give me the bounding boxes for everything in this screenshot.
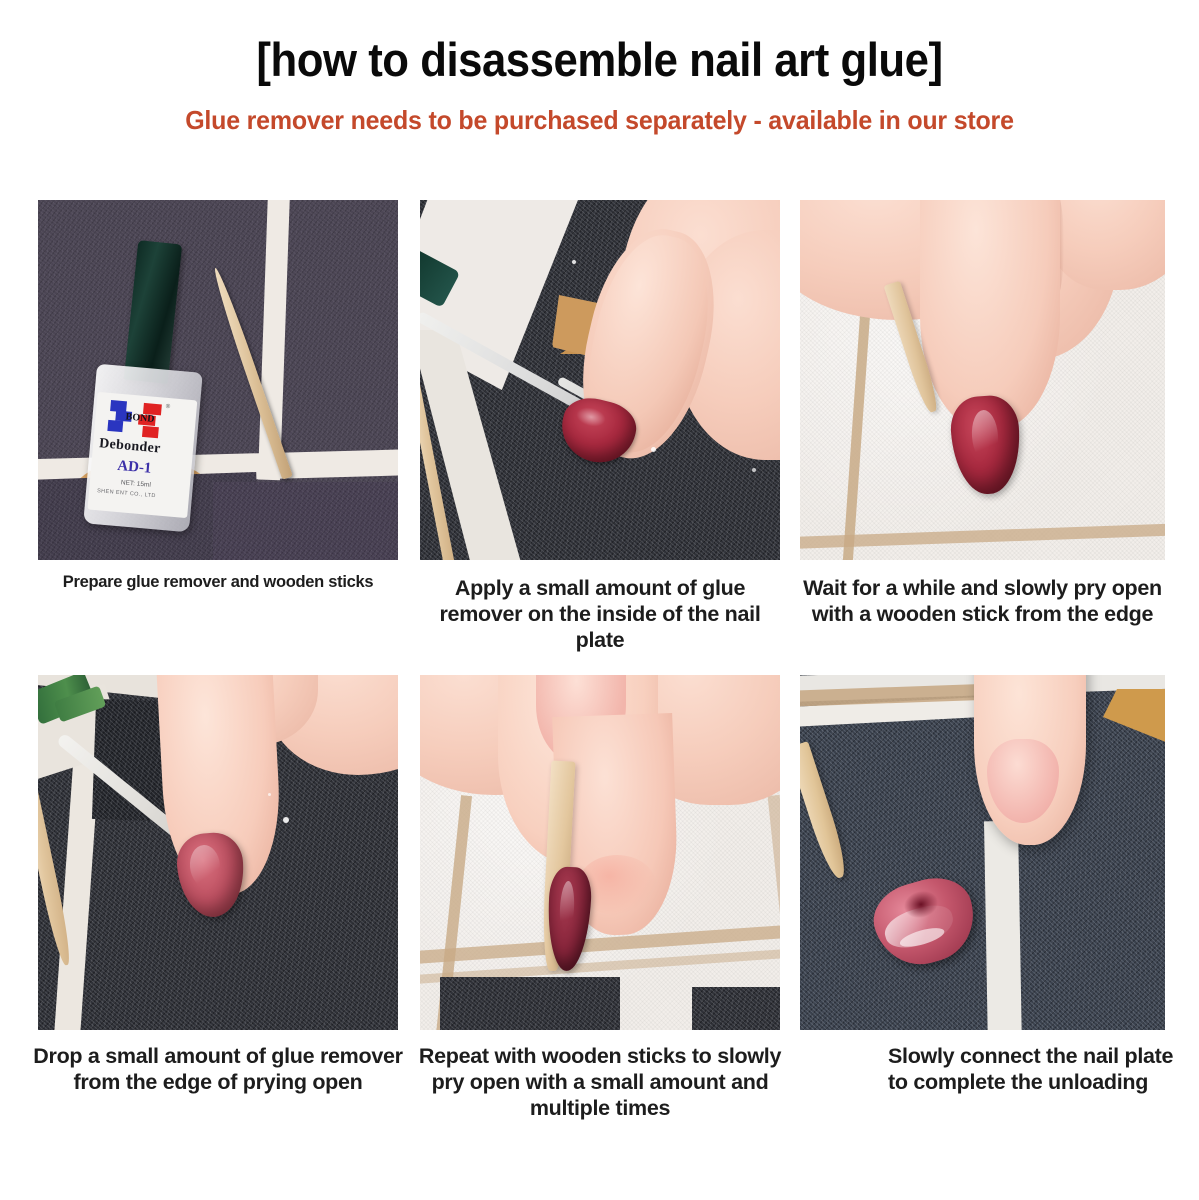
- step-photo-5: [420, 675, 780, 1030]
- glue-bottle: BOND ® Debonder AD-1 NET: 15ml SHEN ENT …: [83, 364, 203, 533]
- page-header: [how to disassemble nail art glue] Glue …: [0, 0, 1199, 136]
- step-card-3[interactable]: Wait for a while and slowly pry open wit…: [800, 200, 1165, 560]
- step-photo-1: BOND ® Debonder AD-1 NET: 15ml SHEN ENT …: [38, 200, 398, 560]
- step-card-1[interactable]: BOND ® Debonder AD-1 NET: 15ml SHEN ENT …: [38, 200, 398, 560]
- step-caption-1: Prepare glue remover and wooden sticks: [38, 572, 398, 592]
- step-photo-2: [420, 200, 780, 560]
- step-caption-5: Repeat with wooden sticks to slowly pry …: [414, 1043, 786, 1122]
- step-caption-3: Wait for a while and slowly pry open wit…: [800, 575, 1165, 627]
- step-caption-4: Drop a small amount of glue remover from…: [30, 1043, 406, 1095]
- step-card-4[interactable]: Drop a small amount of glue remover from…: [38, 675, 398, 1030]
- page-subtitle: Glue remover needs to be purchased separ…: [24, 83, 1175, 136]
- step-photo-3: [800, 200, 1165, 560]
- bottle-product-text: Debonder: [98, 436, 161, 457]
- bottle-net-text: NET: 15ml: [121, 479, 151, 489]
- step-card-6[interactable]: Slowly connect the nail plate to complet…: [800, 675, 1165, 1030]
- step-caption-6: Slowly connect the nail plate to complet…: [888, 1043, 1178, 1095]
- page-title: [how to disassemble nail art glue]: [42, 0, 1157, 83]
- step-card-5[interactable]: Repeat with wooden sticks to slowly pry …: [420, 675, 780, 1030]
- step-caption-2: Apply a small amount of glue remover on …: [420, 575, 780, 654]
- step-photo-4: [38, 675, 398, 1030]
- bottle-brand-text: BOND: [125, 411, 155, 424]
- step-card-2[interactable]: Apply a small amount of glue remover on …: [420, 200, 780, 560]
- step-photo-6: [800, 675, 1165, 1030]
- bottle-code-text: AD-1: [117, 458, 153, 478]
- bottle-manufacturer-text: SHEN ENT CO., LTD: [97, 488, 156, 499]
